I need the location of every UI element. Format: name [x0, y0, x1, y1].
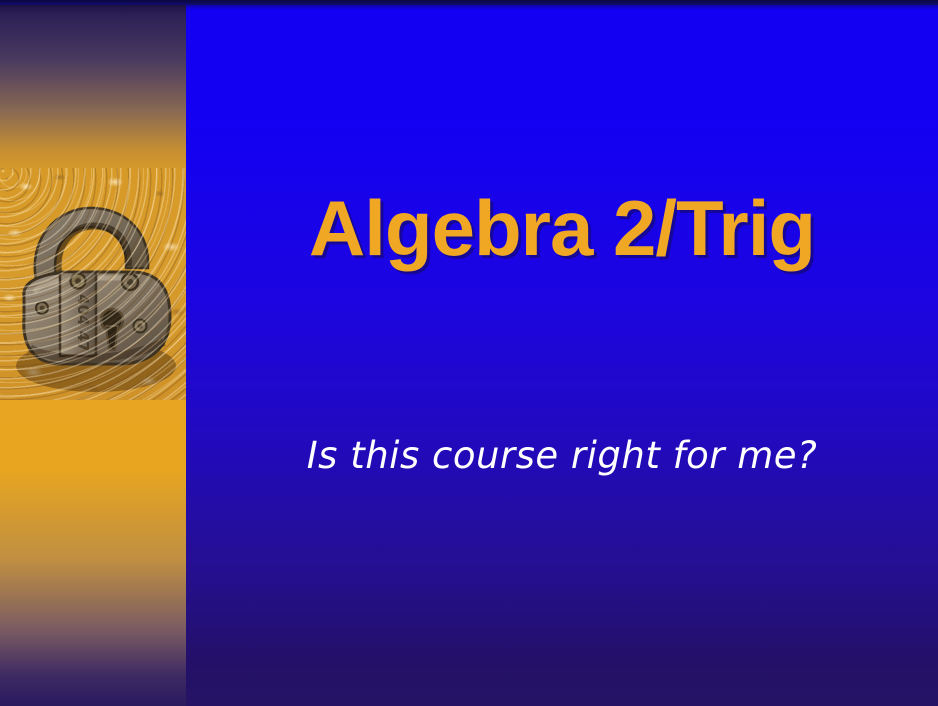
- svg-text:404 47: 404 47: [74, 294, 92, 351]
- presentation-slide: 404 47 Algebra 2/Trig Is this course rig…: [0, 0, 938, 706]
- padlock-body: 404 47: [24, 272, 170, 364]
- top-edge-strip: [0, 0, 938, 5]
- padlock-photo: 404 47: [0, 168, 186, 400]
- slide-title: Algebra 2/Trig: [186, 183, 938, 273]
- slide-subtitle: Is this course right for me?: [186, 432, 938, 480]
- padlock-icon: 404 47: [0, 168, 186, 400]
- sidebar-decorative-band: 404 47: [0, 0, 186, 706]
